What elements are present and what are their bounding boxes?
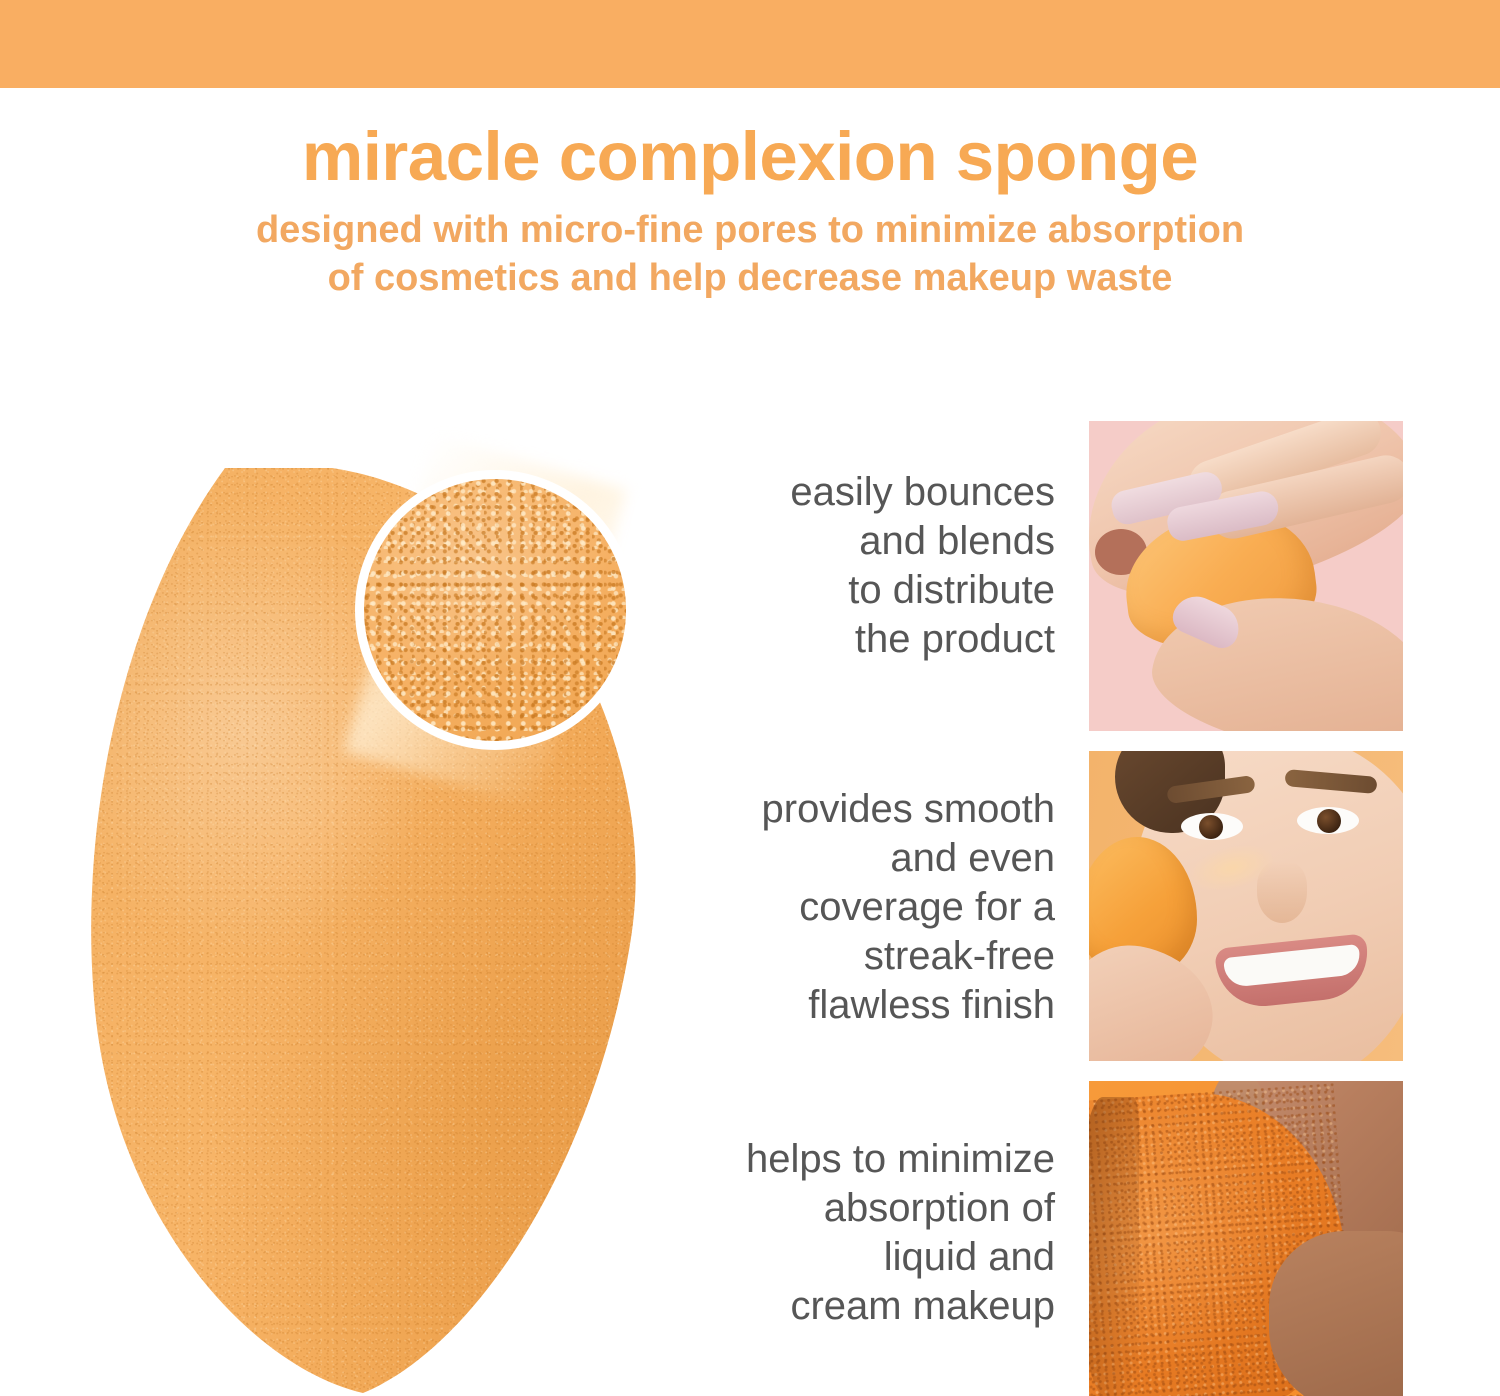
benefit-line: liquid and bbox=[640, 1233, 1055, 1282]
benefit-text-smooth-even-coverage: provides smooth and even coverage for a … bbox=[640, 785, 1055, 1030]
benefit-line: the product bbox=[640, 615, 1055, 664]
benefit-line: cream makeup bbox=[640, 1282, 1055, 1331]
benefit-text-column: easily bounces and blends to distribute … bbox=[640, 400, 1055, 1396]
photo-foundation-absorption bbox=[1089, 1081, 1403, 1396]
benefit-line: absorption of bbox=[640, 1184, 1055, 1233]
sponge-edge-shadow bbox=[1089, 1097, 1139, 1396]
benefit-line: flawless finish bbox=[640, 981, 1055, 1030]
benefit-line: and even bbox=[640, 834, 1055, 883]
foundation-smear bbox=[1269, 1231, 1403, 1396]
benefit-line: and blends bbox=[640, 517, 1055, 566]
photo-applying-makeup bbox=[1089, 751, 1403, 1061]
subtitle-line-2: of cosmetics and help decrease makeup wa… bbox=[0, 254, 1500, 302]
benefit-line: to distribute bbox=[640, 566, 1055, 615]
magnifier-circle bbox=[355, 470, 635, 750]
hero-sponge-illustration bbox=[55, 420, 675, 1390]
teeth bbox=[1223, 944, 1361, 988]
benefit-text-bounces-and-blends: easily bounces and blends to distribute … bbox=[640, 468, 1055, 664]
top-accent-bar bbox=[0, 0, 1500, 88]
page-title: miracle complexion sponge bbox=[0, 118, 1500, 196]
benefit-line: streak-free bbox=[640, 932, 1055, 981]
micro-pores-detail bbox=[364, 479, 626, 741]
page-subtitle: designed with micro-fine pores to minimi… bbox=[0, 206, 1500, 302]
heading-block: miracle complexion sponge designed with … bbox=[0, 118, 1500, 302]
benefit-line: helps to minimize bbox=[640, 1135, 1055, 1184]
benefit-text-minimize-absorption: helps to minimize absorption of liquid a… bbox=[640, 1135, 1055, 1331]
iris-right bbox=[1317, 809, 1341, 833]
photo-column bbox=[1089, 421, 1403, 1396]
main-content: easily bounces and blends to distribute … bbox=[0, 400, 1500, 1396]
subtitle-line-1: designed with micro-fine pores to minimi… bbox=[0, 206, 1500, 254]
iris-left bbox=[1199, 815, 1223, 839]
benefit-line: provides smooth bbox=[640, 785, 1055, 834]
benefit-line: easily bounces bbox=[640, 468, 1055, 517]
benefit-line: coverage for a bbox=[640, 883, 1055, 932]
photo-squeezing-sponge bbox=[1089, 421, 1403, 731]
